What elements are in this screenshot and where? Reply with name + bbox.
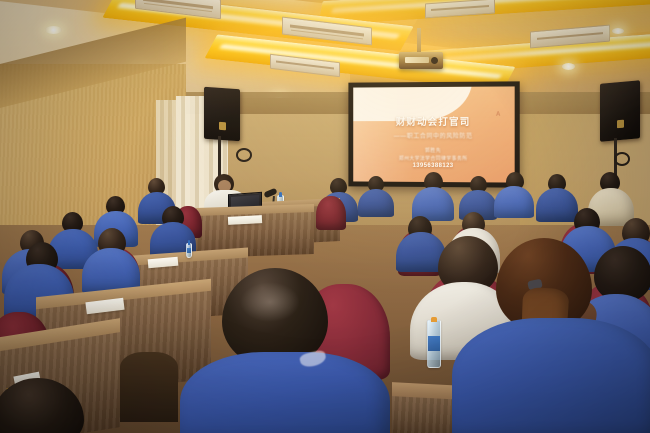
slide-logo-icon: A — [496, 111, 500, 117]
speaker-cable — [614, 152, 630, 166]
downlight-icon — [45, 26, 62, 34]
slide-subtitle: ——职工合同中的风险防范 — [353, 131, 514, 140]
attendee-body — [494, 186, 534, 218]
table-gap-shadow — [120, 352, 178, 422]
slide-organization: 郑州大学法学合同律学事务所 — [353, 155, 514, 163]
attendee-body — [536, 188, 578, 222]
conference-room-photo: A 财财动会打官司 ——职工合同中的风险防范 郭胜先 郑州大学法学合同律学事务所… — [0, 0, 650, 433]
slide-presenter-name: 郭胜先 — [353, 147, 514, 154]
downlight-icon — [612, 28, 624, 34]
chair — [316, 196, 346, 230]
downlight-icon — [562, 63, 575, 70]
projected-slide: A 财财动会打官司 ——职工合同中的风险防范 郭胜先 郑州大学法学合同律学事务所… — [353, 86, 514, 182]
slide-text-block: 财财动会打官司 ——职工合同中的风险防范 郭胜先 郑州大学法学合同律学事务所 1… — [353, 118, 514, 169]
speaker-stand — [218, 136, 221, 176]
slide-phone: 13956388123 — [353, 162, 514, 169]
wall-speaker-left — [204, 87, 240, 142]
speaker-cable — [236, 148, 252, 162]
ceiling-projector — [399, 52, 443, 69]
woman-attendee-body — [452, 318, 650, 433]
water-bottle — [427, 320, 441, 368]
slide-title: 财财动会打官司 — [353, 118, 514, 129]
water-bottle — [186, 243, 192, 258]
projector-mount-pole — [417, 28, 421, 54]
hair-highlight — [240, 282, 300, 322]
wall-speaker-right — [600, 80, 640, 141]
foreground-attendee-body — [180, 352, 390, 433]
attendee-body — [358, 189, 394, 217]
